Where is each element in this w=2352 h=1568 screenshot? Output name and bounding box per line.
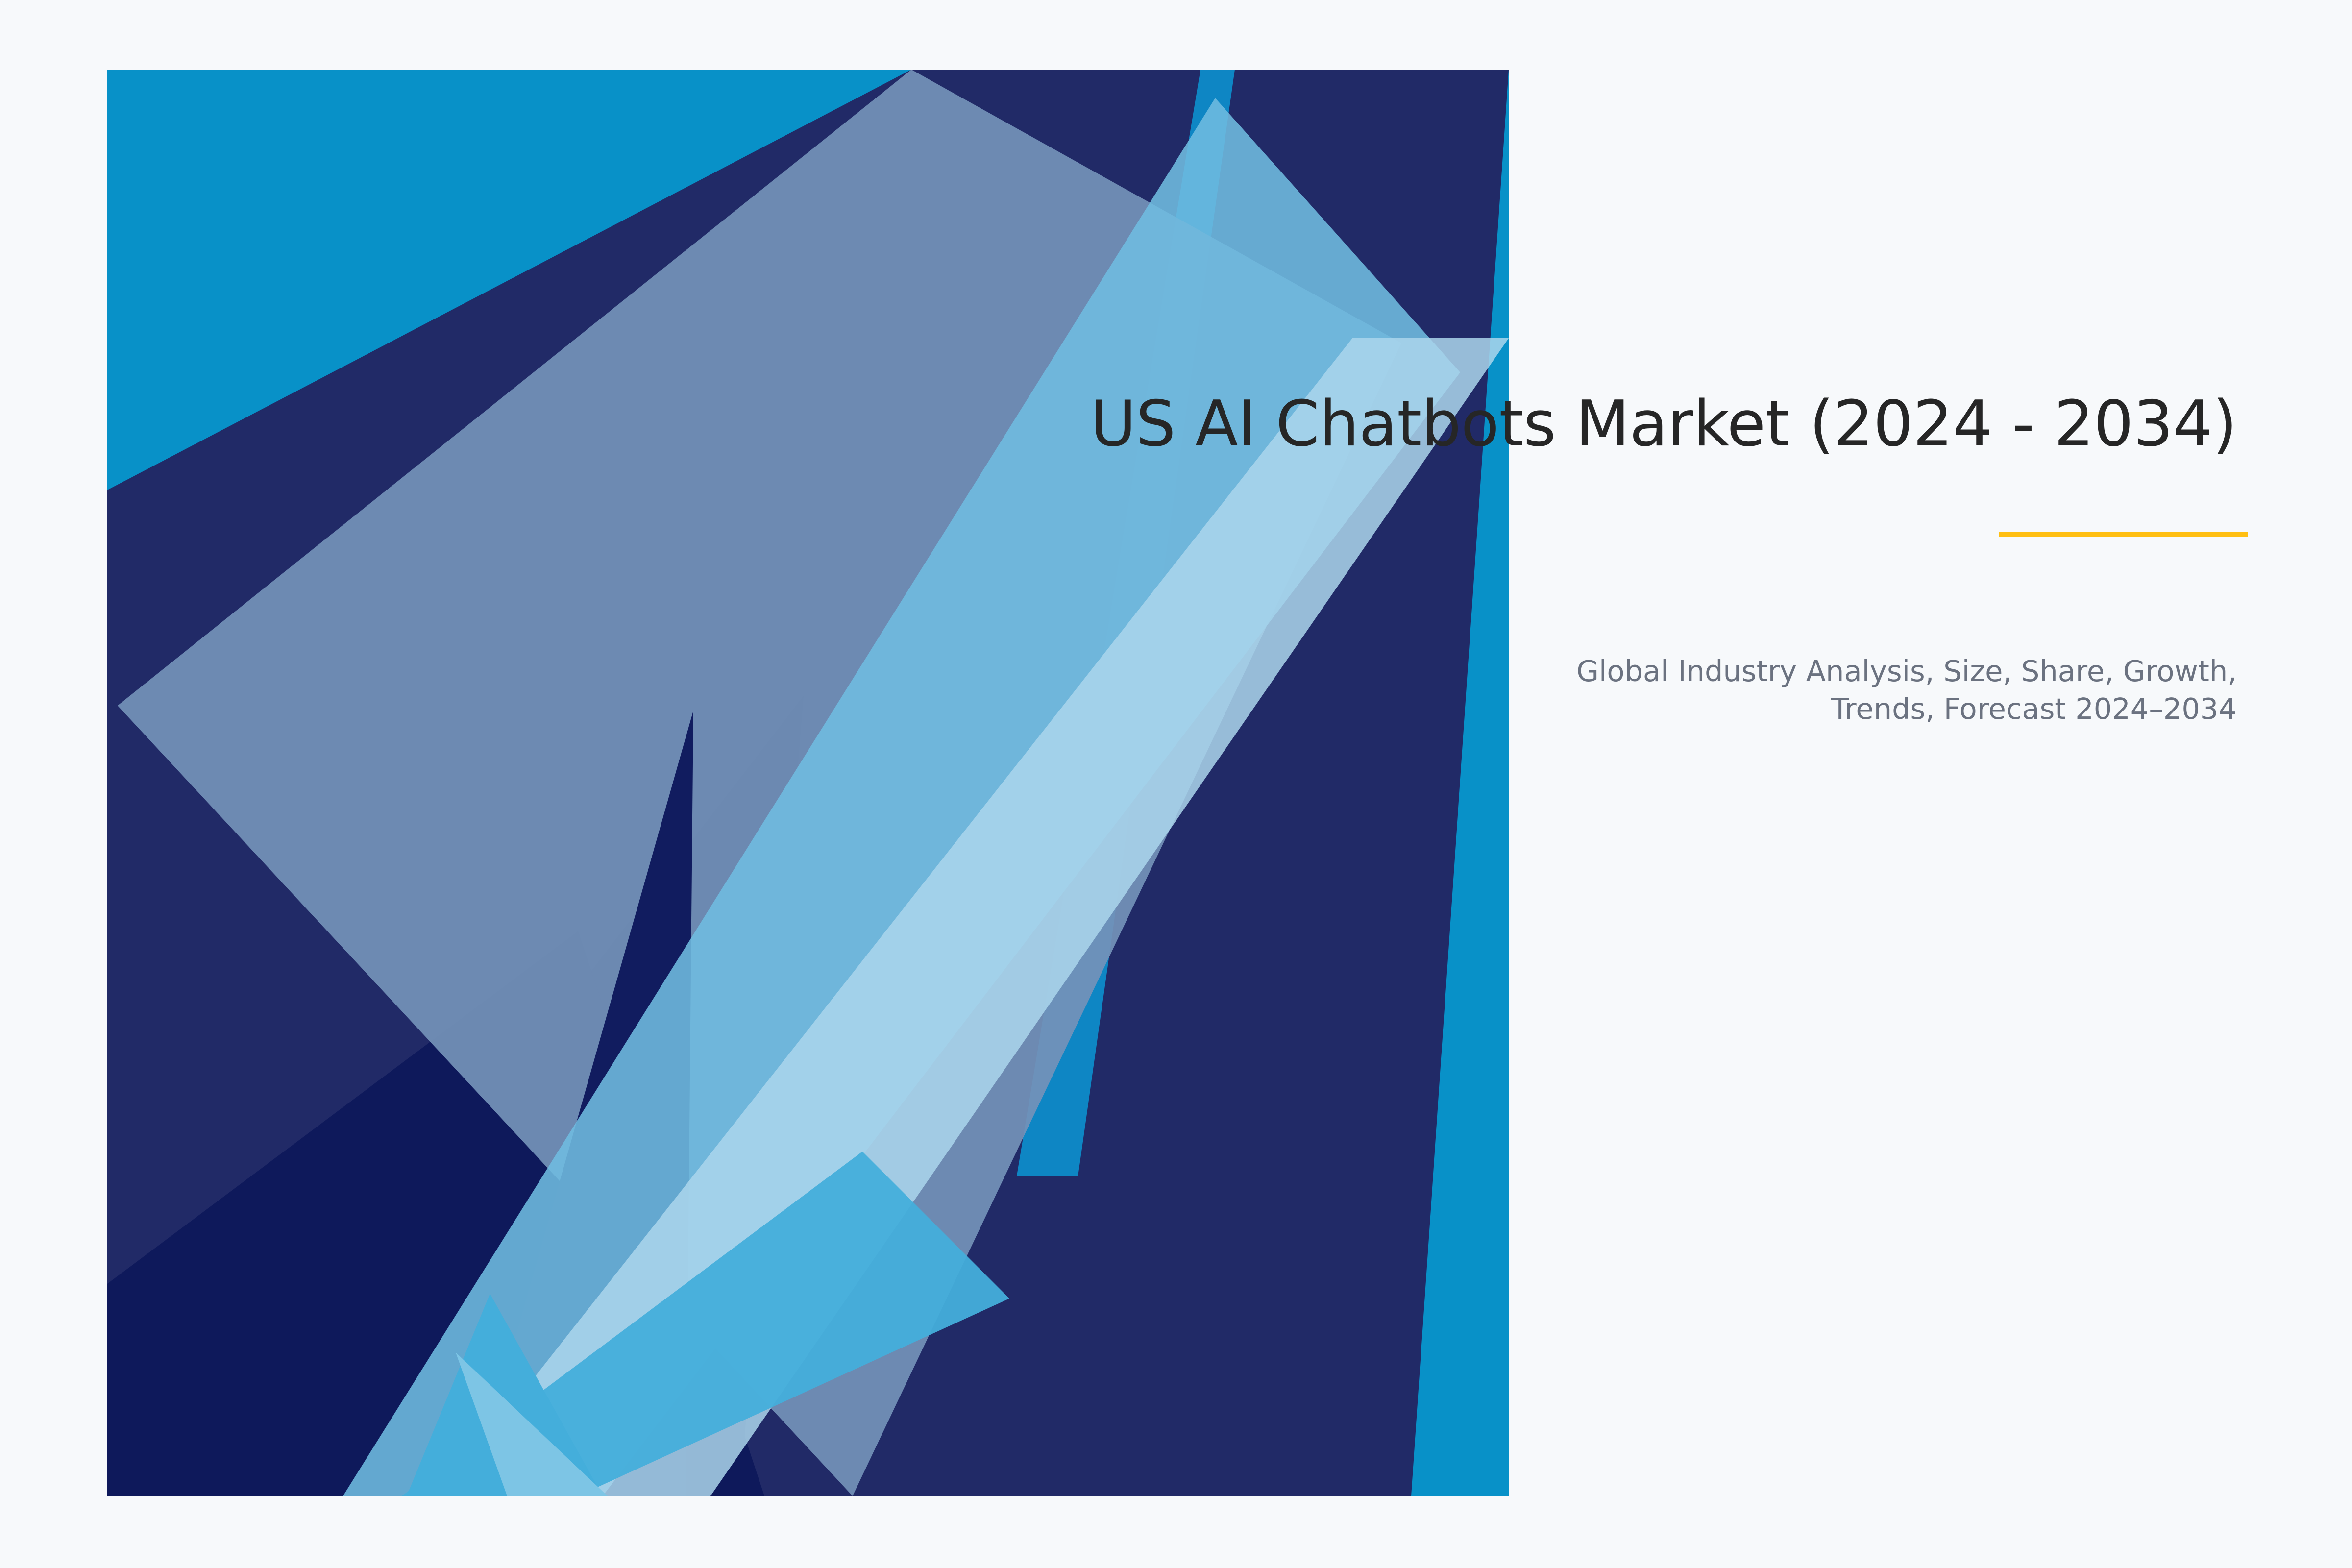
abstract-geometric-graphic — [0, 0, 2352, 1568]
report-cover-page: US AI Chatbots Market (2024 - 2034) Glob… — [0, 0, 2352, 1568]
